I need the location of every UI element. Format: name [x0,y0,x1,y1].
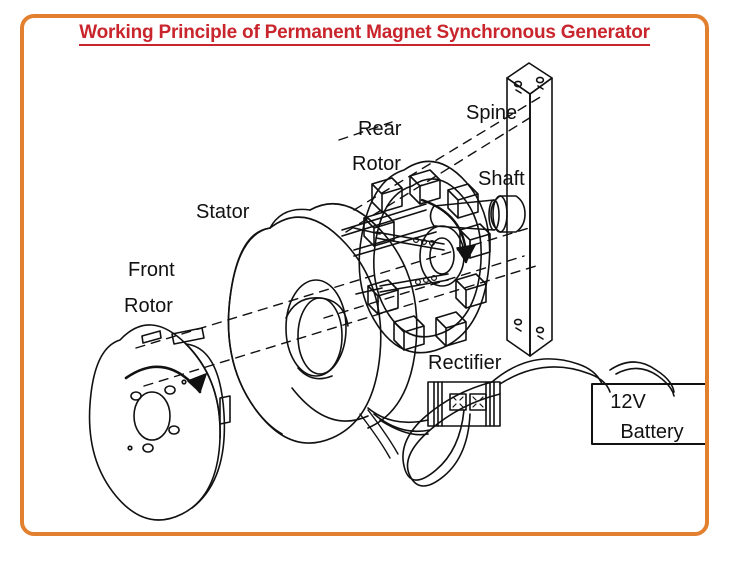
label-rear-rotor-line1: Rear [358,118,402,140]
battery-name-label: Battery [620,421,683,443]
rectifier-component [428,382,500,426]
label-front-rotor-line2: Rotor [124,295,173,317]
diagram-container: Front Rotor Stator Rear Rotor Spine Shaf… [24,18,705,532]
connecting-studs [342,204,436,256]
generator-diagram-svg: Front Rotor Stator Rear Rotor Spine Shaf… [24,18,705,532]
label-shaft: Shaft [478,168,525,190]
label-stator: Stator [196,201,250,223]
screenshot-root: Working Principle of Permanent Magnet Sy… [0,0,729,563]
rear-rotor-component [354,161,490,352]
label-front-rotor-line1: Front [128,259,175,281]
label-rear-rotor-line2: Rotor [352,153,401,175]
label-rectifier: Rectifier [428,352,502,374]
label-spine: Spine [466,102,517,124]
battery-voltage-label: 12V [610,391,646,413]
front-rotor-component [90,325,230,520]
